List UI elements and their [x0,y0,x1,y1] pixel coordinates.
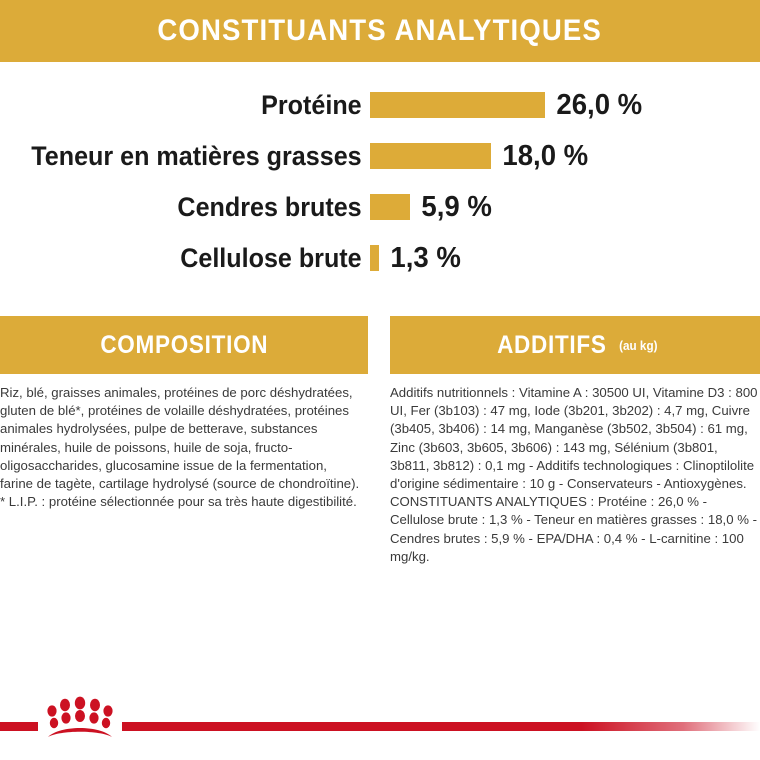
royal-canin-crown-logo [38,694,122,740]
chart-category-label: Cellulose brute [26,243,370,274]
chart-category-label: Teneur en matières grasses [26,141,370,172]
composition-text-column: Riz, blé, graisses animales, protéines d… [0,384,360,511]
chart-bar-row: Teneur en matières grasses18,0 % [0,133,760,179]
additifs-paragraph: CONSTITUANTS ANALYTIQUES : Protéine : 26… [390,493,758,566]
chart-bar [370,245,379,271]
section-header-row: COMPOSITION ADDITIFS (au kg) [0,316,760,374]
footer-rule-left [0,722,38,731]
chart-bar [370,143,491,169]
brand-footer [0,682,760,760]
chart-bar [370,92,545,118]
chart-bar-row: Protéine26,0 % [0,82,760,128]
chart-value-label: 18,0 % [491,140,588,173]
chart-category-label: Protéine [26,90,370,121]
chart-category-label: Cendres brutes [26,192,370,223]
chart-value-label: 5,9 % [410,191,492,224]
additifs-header: ADDITIFS (au kg) [390,316,760,374]
analytical-constituents-chart: Protéine26,0 %Teneur en matières grasses… [0,82,760,292]
footer-rule-right [122,722,760,731]
page-title: CONSTITUANTS ANALYTIQUES [158,14,603,48]
additifs-header-subtitle: (au kg) [619,338,657,353]
additifs-header-title: ADDITIFS [497,331,607,360]
chart-bar-row: Cellulose brute1,3 % [0,235,760,281]
additifs-paragraph: Additifs nutritionnels : Vitamine A : 30… [390,384,758,493]
analytical-constituents-banner: CONSTITUANTS ANALYTIQUES [0,0,760,62]
composition-text: Riz, blé, graisses animales, protéines d… [0,384,360,511]
chart-bar [370,194,410,220]
chart-value-label: 26,0 % [545,89,642,122]
composition-header-title: COMPOSITION [100,331,268,360]
chart-value-label: 1,3 % [379,242,461,275]
additifs-text-column: Additifs nutritionnels : Vitamine A : 30… [390,384,758,566]
composition-header: COMPOSITION [0,316,368,374]
chart-bar-row: Cendres brutes5,9 % [0,184,760,230]
